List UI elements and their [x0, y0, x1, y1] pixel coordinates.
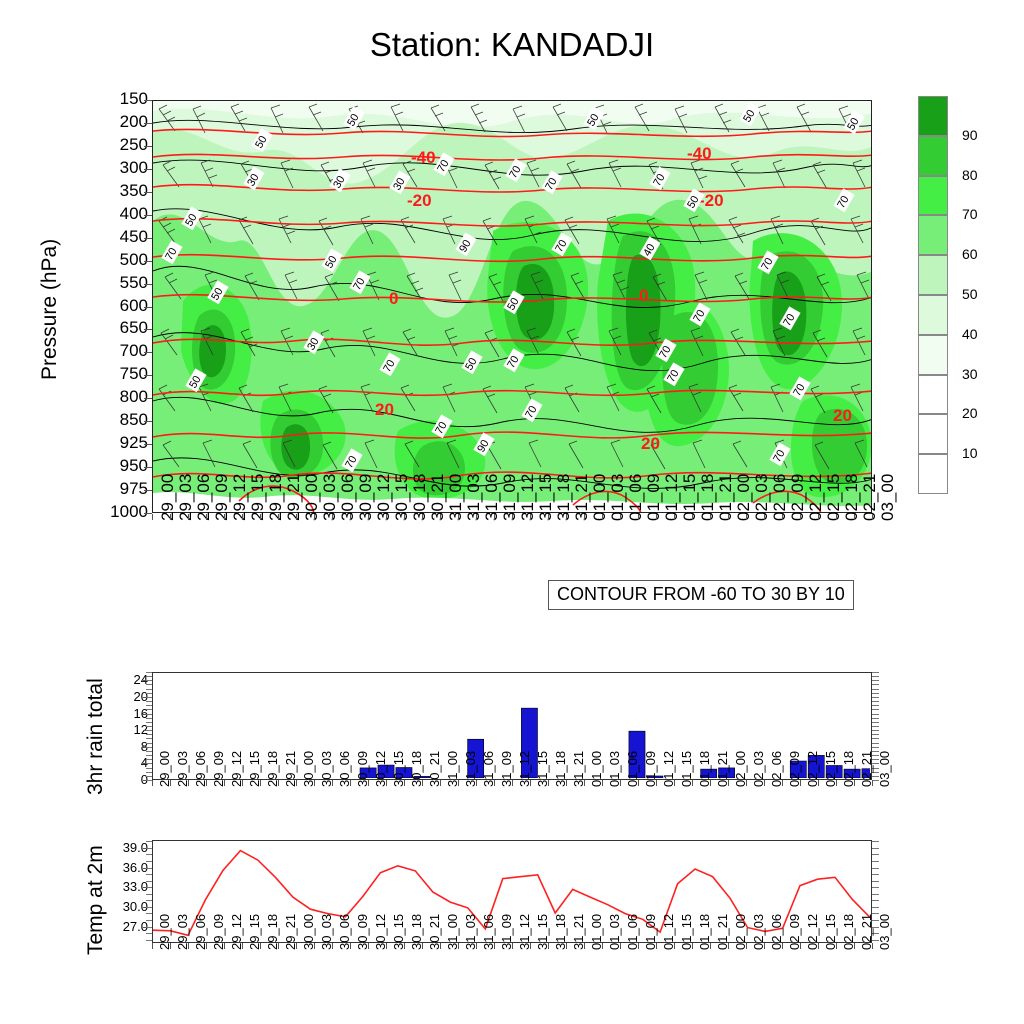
rain-x-tick-label-mark — [872, 780, 873, 786]
rain-y-minor-tick — [872, 714, 879, 715]
temp-y-minor-tick — [146, 927, 152, 928]
rain-x-tick-label-mark — [386, 780, 387, 786]
temp-x-tick-label-mark — [314, 943, 315, 949]
rain-y-minor-tick — [872, 684, 879, 685]
temp-x-tick-label-mark — [278, 943, 279, 949]
main-y-tick-label: 200 — [78, 112, 148, 132]
temp-y-minor-tick — [146, 887, 152, 888]
main-x-tick-label-mark — [656, 514, 657, 520]
colorbar-cell — [918, 295, 948, 335]
main-y-tick — [144, 444, 152, 445]
main-y-tick-label: 700 — [78, 341, 148, 361]
temp-x-tick-label-mark — [224, 943, 225, 949]
rain-x-tick-label-mark — [242, 780, 243, 786]
temp-y-minor-tick — [872, 854, 879, 855]
main-x-tick-label-mark — [188, 514, 189, 520]
main-x-tick-label-mark — [260, 514, 261, 520]
temp-y-minor-tick — [872, 900, 879, 901]
rain-y-minor-tick — [146, 680, 152, 681]
rain-y-tick-label: 16 — [88, 706, 148, 721]
temp-x-tick-label-mark — [620, 943, 621, 949]
rain-x-tick-label-mark — [566, 780, 567, 786]
colorbar-tick-label: 30 — [962, 366, 978, 382]
rain-x-tick-label-mark — [314, 780, 315, 786]
isotherm-label: -40 — [687, 144, 712, 163]
colorbar-cell — [918, 176, 948, 216]
main-y-tick — [144, 169, 152, 170]
rain-y-minor-tick — [146, 684, 152, 685]
main-x-tick-label-mark — [170, 514, 171, 520]
colorbar-tick-label: 10 — [962, 445, 978, 461]
main-x-tick-label-mark — [584, 514, 585, 520]
main-x-tick-label-mark — [332, 514, 333, 520]
main-x-tick-label: 03_00 — [878, 474, 898, 521]
rain-x-tick-label-mark — [530, 780, 531, 786]
colorbar-cell — [918, 414, 948, 454]
rain-x-tick-label-mark — [152, 780, 153, 786]
rain-x-tick-label-mark — [818, 780, 819, 786]
rain-y-minor-tick — [146, 709, 152, 710]
temp-x-tick-label-mark — [296, 943, 297, 949]
main-y-tick-label: 800 — [78, 387, 148, 407]
temp-x-tick-label-mark — [368, 943, 369, 949]
rain-x-tick-label-mark — [620, 780, 621, 786]
main-y-tick — [144, 238, 152, 239]
rain-y-minor-tick — [146, 768, 152, 769]
main-y-tick — [144, 192, 152, 193]
rain-y-minor-tick — [872, 672, 879, 673]
main-y-tick — [144, 215, 152, 216]
temp-y-minor-tick — [872, 874, 879, 875]
rain-x-tick-label-mark — [764, 780, 765, 786]
colorbar-cell — [918, 375, 948, 415]
isotherm-label: -40 — [411, 148, 436, 167]
main-y-tick-label: 925 — [78, 433, 148, 453]
temp-y-minor-tick — [146, 854, 152, 855]
temp-y-minor-tick — [146, 933, 152, 934]
colorbar-tick-label: 40 — [962, 326, 978, 342]
main-y-tick — [144, 490, 152, 491]
colorbar-cell — [918, 136, 948, 176]
main-x-tick-label-mark — [152, 514, 153, 520]
rain-y-minor-tick — [872, 743, 879, 744]
main-y-tick-label: 600 — [78, 296, 148, 316]
main-x-tick-label-mark — [368, 514, 369, 520]
temp-x-tick-label-mark — [206, 943, 207, 949]
temp-y-minor-tick — [872, 907, 879, 908]
rain-y-minor-tick — [146, 718, 152, 719]
rain-y-minor-tick — [872, 738, 879, 739]
main-x-tick-label-mark — [854, 514, 855, 520]
temp-x-tick-label-mark — [638, 943, 639, 949]
temp-x-tick-label-mark — [476, 943, 477, 949]
rain-x-tick-label-mark — [368, 780, 369, 786]
rain-y-minor-tick — [146, 755, 152, 756]
main-x-tick-label-mark — [566, 514, 567, 520]
temp-x-tick-label-mark — [440, 943, 441, 949]
main-y-tick — [144, 123, 152, 124]
main-x-tick-label-mark — [512, 514, 513, 520]
rain-x-tick-label-mark — [836, 780, 837, 786]
colorbar-tick-label: 90 — [962, 127, 978, 143]
temp-x-tick-label-mark — [818, 943, 819, 949]
main-ylabel: Pressure (hPa) — [38, 239, 62, 380]
main-x-tick-label-mark — [638, 514, 639, 520]
rain-y-minor-tick — [872, 693, 879, 694]
rain-y-minor-tick — [146, 693, 152, 694]
rain-y-tick-label: 8 — [88, 739, 148, 754]
temp-x-tick-label-mark — [692, 943, 693, 949]
main-x-tick-label-mark — [620, 514, 621, 520]
rain-x-tick-label-mark — [602, 780, 603, 786]
page-title: Station: KANDADJI — [0, 26, 1024, 64]
main-y-tick-label: 850 — [78, 410, 148, 430]
main-y-tick-label: 650 — [78, 318, 148, 338]
temp-x-tick-label-mark — [764, 943, 765, 949]
rain-x-tick-label-mark — [332, 780, 333, 786]
colorbar-cell — [918, 215, 948, 255]
main-y-tick — [144, 100, 152, 101]
temp-y-minor-tick — [872, 868, 879, 869]
rain-y-minor-tick — [146, 701, 152, 702]
rain-x-tick-label-mark — [476, 780, 477, 786]
rain-x-tick-label-mark — [404, 780, 405, 786]
rain-x-tick-label-mark — [692, 780, 693, 786]
temp-y-minor-tick — [146, 894, 152, 895]
main-y-tick — [144, 352, 152, 353]
rain-x-tick-label-mark — [710, 780, 711, 786]
rain-x-tick-label-mark — [206, 780, 207, 786]
rain-y-minor-tick — [146, 672, 152, 673]
main-y-tick — [144, 284, 152, 285]
rain-y-minor-tick — [872, 734, 879, 735]
main-y-tick-label: 350 — [78, 181, 148, 201]
rain-y-minor-tick — [872, 747, 879, 748]
temp-x-tick-label-mark — [170, 943, 171, 949]
rain-y-minor-tick — [872, 689, 879, 690]
main-x-tick-label-mark — [422, 514, 423, 520]
temp-x-tick-label-mark — [512, 943, 513, 949]
rain-y-minor-tick — [146, 705, 152, 706]
rain-x-tick-label-mark — [422, 780, 423, 786]
isotherm-label: 20 — [641, 434, 660, 453]
rain-x-tick-label-mark — [494, 780, 495, 786]
rain-y-minor-tick — [146, 759, 152, 760]
rain-x-tick-label-mark — [674, 780, 675, 786]
main-x-tick-label-mark — [818, 514, 819, 520]
temp-y-minor-tick — [146, 940, 152, 941]
temp-y-minor-tick — [872, 848, 879, 849]
main-y-tick-label: 750 — [78, 364, 148, 384]
colorbar-tick-label: 50 — [962, 286, 978, 302]
main-x-tick-label-mark — [530, 514, 531, 520]
temp-x-tick-label-mark — [710, 943, 711, 949]
isotherm-label: 0 — [389, 289, 398, 308]
rain-x-tick-label-mark — [440, 780, 441, 786]
temp-y-minor-tick — [146, 913, 152, 914]
rain-y-minor-tick — [872, 680, 879, 681]
contour-note: CONTOUR FROM -60 TO 30 BY 10 — [548, 580, 854, 610]
main-x-tick-label-mark — [206, 514, 207, 520]
temp-y-minor-tick — [146, 861, 152, 862]
main-x-tick-label-mark — [494, 514, 495, 520]
temp-y-minor-tick — [146, 907, 152, 908]
temp-y-tick-label: 30.0 — [88, 899, 148, 914]
main-y-tick — [144, 398, 152, 399]
figure-root: Station: KANDADJI — [0, 0, 1024, 1024]
temp-y-minor-tick — [146, 900, 152, 901]
rain-x-tick-label-mark — [746, 780, 747, 786]
rain-y-minor-tick — [872, 705, 879, 706]
rain-y-tick-label: 24 — [88, 672, 148, 687]
temp-y-minor-tick — [146, 848, 152, 849]
main-x-tick-label-mark — [800, 514, 801, 520]
temp-y-tick-label: 27.0 — [88, 919, 148, 934]
rain-y-minor-tick — [146, 751, 152, 752]
rain-x-tick-label-mark — [278, 780, 279, 786]
temp-y-tick-label: 39.0 — [88, 840, 148, 855]
temp-y-minor-tick — [872, 887, 879, 888]
colorbar-tick-label: 60 — [962, 246, 978, 262]
main-x-tick-label-mark — [404, 514, 405, 520]
temp-y-tick-label: 36.0 — [88, 860, 148, 875]
rain-y-minor-tick — [872, 718, 879, 719]
rain-y-minor-tick — [872, 676, 879, 677]
rain-x-tick-label-mark — [854, 780, 855, 786]
rain-x-tick-label-mark — [458, 780, 459, 786]
temp-y-minor-tick — [872, 894, 879, 895]
rain-y-minor-tick — [146, 776, 152, 777]
temp-x-tick-label-mark — [332, 943, 333, 949]
isotherm-label: 20 — [833, 406, 852, 425]
temp-x-tick-label-mark — [836, 943, 837, 949]
temp-x-tick-label-mark — [530, 943, 531, 949]
colorbar-tick-label: 70 — [962, 206, 978, 222]
rain-y-minor-tick — [872, 697, 879, 698]
temp-y-minor-tick — [146, 868, 152, 869]
rain-y-minor-tick — [146, 676, 152, 677]
rain-x-tick-label-mark — [800, 780, 801, 786]
temp-x-tick-label-mark — [260, 943, 261, 949]
main-x-tick-label-mark — [386, 514, 387, 520]
rain-x-tick-label-mark — [350, 780, 351, 786]
colorbar-tick-label: 80 — [962, 167, 978, 183]
main-x-tick-label-mark — [548, 514, 549, 520]
rain-y-minor-tick — [146, 738, 152, 739]
rain-y-minor-tick — [872, 722, 879, 723]
temp-x-tick-label-mark — [656, 943, 657, 949]
rain-x-tick-label-mark — [638, 780, 639, 786]
main-x-tick-label-mark — [746, 514, 747, 520]
isotherm-label: -20 — [407, 191, 432, 210]
colorbar-tick-label: 20 — [962, 405, 978, 421]
colorbar-cell — [918, 96, 948, 136]
main-y-tick-label: 975 — [78, 479, 148, 499]
main-y-tick-label: 400 — [78, 204, 148, 224]
temp-y-minor-tick — [872, 861, 879, 862]
rain-x-tick-label-mark — [170, 780, 171, 786]
main-y-tick — [144, 146, 152, 147]
rain-y-minor-tick — [146, 747, 152, 748]
main-x-tick-label-mark — [458, 514, 459, 520]
main-y-tick — [144, 307, 152, 308]
rain-x-tick-label: 03_00 — [877, 751, 892, 787]
temp-y-minor-tick — [146, 881, 152, 882]
main-x-tick-label-mark — [278, 514, 279, 520]
main-x-tick-label-mark — [602, 514, 603, 520]
main-y-tick-label: 300 — [78, 158, 148, 178]
main-x-tick-label-mark — [350, 514, 351, 520]
rain-y-tick-label: 20 — [88, 689, 148, 704]
rain-y-minor-tick — [146, 772, 152, 773]
time-height-cross-section-plot[interactable]: -40 -40 -20 -20 0 0 20 20 20 50 50 50 50… — [152, 100, 872, 513]
rain-y-minor-tick — [146, 714, 152, 715]
main-x-tick-label-mark — [674, 514, 675, 520]
rain-y-minor-tick — [872, 730, 879, 731]
main-y-tick — [144, 261, 152, 262]
temp-x-tick-label-mark — [854, 943, 855, 949]
rain-x-tick-label-mark — [548, 780, 549, 786]
main-x-tick-label-mark — [296, 514, 297, 520]
main-x-tick-label-mark — [476, 514, 477, 520]
rain-y-tick-label: 12 — [88, 722, 148, 737]
main-x-tick-label-mark — [224, 514, 225, 520]
temp-y-minor-tick — [146, 874, 152, 875]
rain-x-tick-label-mark — [782, 780, 783, 786]
main-y-tick — [144, 329, 152, 330]
temp-x-tick-label-mark — [872, 943, 873, 949]
rain-y-minor-tick — [872, 709, 879, 710]
rain-y-minor-tick — [146, 689, 152, 690]
rain-y-minor-tick — [146, 697, 152, 698]
main-y-tick-label: 250 — [78, 135, 148, 155]
temp-x-tick-label-mark — [674, 943, 675, 949]
temp-x-tick-label-mark — [152, 943, 153, 949]
rain-x-tick-label-mark — [260, 780, 261, 786]
temp-x-tick-label-mark — [494, 943, 495, 949]
temp-x-tick-label-mark — [566, 943, 567, 949]
rain-y-minor-tick — [146, 722, 152, 723]
main-y-tick-label: 950 — [78, 456, 148, 476]
temp-x-tick-label-mark — [350, 943, 351, 949]
rain-x-tick-label-mark — [296, 780, 297, 786]
temp-y-minor-tick — [872, 881, 879, 882]
main-x-tick-label-mark — [836, 514, 837, 520]
main-y-tick-label: 1000 — [78, 502, 148, 522]
rain-y-minor-tick — [146, 743, 152, 744]
main-y-tick-label: 450 — [78, 227, 148, 247]
temp-x-tick-label-mark — [602, 943, 603, 949]
temp-x-tick-label-mark — [782, 943, 783, 949]
rain-x-tick-label-mark — [512, 780, 513, 786]
main-x-tick-label-mark — [764, 514, 765, 520]
colorbar-cell — [918, 454, 948, 494]
isotherm-label: 0 — [639, 286, 648, 305]
temp-y-minor-tick — [872, 841, 879, 842]
temp-y-tick-label: 33.0 — [88, 879, 148, 894]
cross-section-canvas: -40 -40 -20 -20 0 0 20 20 20 50 50 50 50… — [153, 101, 872, 513]
main-y-tick — [144, 513, 152, 514]
temp-x-tick-label-mark — [404, 943, 405, 949]
rain-y-minor-tick — [146, 763, 152, 764]
temp-x-tick-label-mark — [548, 943, 549, 949]
rain-y-tick-label: 0 — [88, 772, 148, 787]
rain-y-minor-tick — [146, 730, 152, 731]
main-x-tick-label-mark — [728, 514, 729, 520]
rain-x-tick-label-mark — [224, 780, 225, 786]
temp-x-tick-label-mark — [458, 943, 459, 949]
main-y-tick — [144, 467, 152, 468]
colorbar-cell — [918, 335, 948, 375]
main-x-tick-label-mark — [872, 514, 873, 520]
main-x-tick-label-mark — [314, 514, 315, 520]
rain-y-minor-tick — [146, 734, 152, 735]
main-y-tick — [144, 421, 152, 422]
rain-x-tick-label-mark — [728, 780, 729, 786]
main-y-tick — [144, 375, 152, 376]
main-x-tick-label-mark — [242, 514, 243, 520]
rain-y-minor-tick — [872, 726, 879, 727]
rain-x-tick-label-mark — [188, 780, 189, 786]
main-y-tick-label: 500 — [78, 250, 148, 270]
temp-x-tick-label-mark — [386, 943, 387, 949]
colorbar-cell — [918, 255, 948, 295]
temp-x-tick-label-mark — [728, 943, 729, 949]
temp-x-tick-label-mark — [584, 943, 585, 949]
main-y-tick-label: 550 — [78, 273, 148, 293]
temp-x-tick-label-mark — [746, 943, 747, 949]
temp-x-tick-label: 03_00 — [877, 914, 892, 950]
main-x-tick-label-mark — [440, 514, 441, 520]
temp-x-tick-label-mark — [422, 943, 423, 949]
main-y-tick-label: 150 — [78, 89, 148, 109]
rain-y-tick-label: 4 — [88, 755, 148, 770]
temp-y-minor-tick — [146, 920, 152, 921]
main-x-tick-label-mark — [710, 514, 711, 520]
rain-y-minor-tick — [872, 701, 879, 702]
isotherm-label: 20 — [375, 400, 394, 419]
temp-x-tick-label-mark — [242, 943, 243, 949]
rain-y-minor-tick — [146, 726, 152, 727]
temp-x-tick-label-mark — [800, 943, 801, 949]
rain-x-tick-label-mark — [584, 780, 585, 786]
main-x-tick-label-mark — [782, 514, 783, 520]
colorbar[interactable] — [918, 96, 948, 494]
temp-y-minor-tick — [146, 841, 152, 842]
main-x-tick-label-mark — [692, 514, 693, 520]
rain-x-tick-label-mark — [656, 780, 657, 786]
temp-x-tick-label-mark — [188, 943, 189, 949]
